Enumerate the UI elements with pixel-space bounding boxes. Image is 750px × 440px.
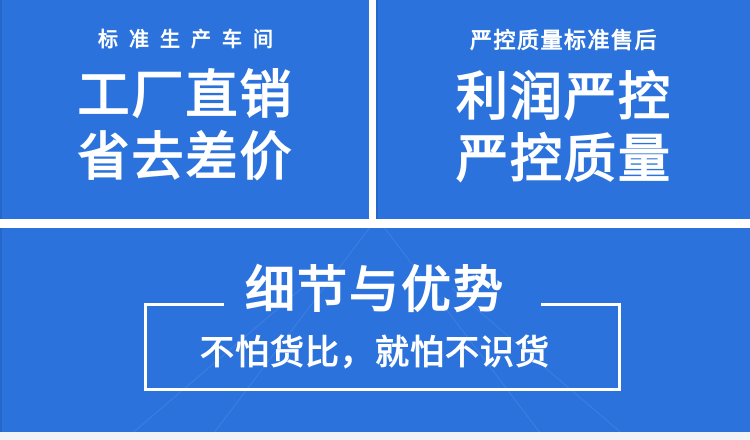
panel-left-headline-line1: 工厂直销 <box>77 68 293 124</box>
panel-left-eyebrow: 标准生产车间 <box>87 30 284 50</box>
details-title: 细节与优势 <box>0 265 750 315</box>
panel-right-eyebrow: 严控质量标准售后 <box>470 30 658 52</box>
details-subtitle: 不怕货比，就怕不识货 <box>0 336 750 370</box>
bottom-edge-strip <box>0 432 750 440</box>
panel-right-headline-line2: 严控质量 <box>456 132 672 188</box>
panel-left-headline-line2: 省去差价 <box>77 130 293 186</box>
panel-right-headline-line1: 利润严控 <box>456 70 672 126</box>
promo-banner: 标准生产车间 工厂直销 省去差价 严控质量标准售后 利润严控 严控质量 细节与优… <box>0 0 750 440</box>
panel-quality-control: 严控质量标准售后 利润严控 严控质量 <box>376 0 750 219</box>
top-panel-row: 标准生产车间 工厂直销 省去差价 严控质量标准售后 利润严控 严控质量 <box>0 0 750 219</box>
panel-factory-direct: 标准生产车间 工厂直销 省去差价 <box>0 0 369 219</box>
